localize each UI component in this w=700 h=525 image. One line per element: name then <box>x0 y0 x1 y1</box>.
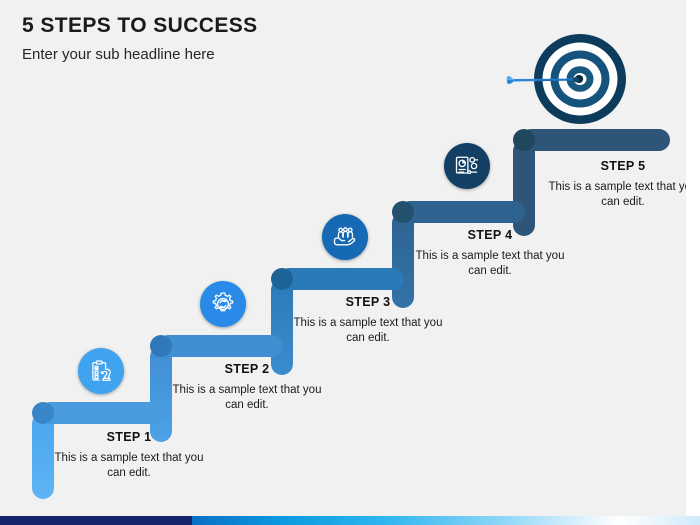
step-4-riser <box>392 212 414 308</box>
accent-navy-segment <box>0 516 192 525</box>
step-2-riser <box>150 346 172 442</box>
step-4-corner <box>392 201 414 223</box>
step-5-label: STEP 5 <box>548 159 698 173</box>
step-3-tread <box>278 268 404 290</box>
accent-gradient-segment <box>192 516 700 525</box>
step-5-description: This is a sample text that you can edit. <box>548 180 698 210</box>
step-5-icon-bubble[interactable] <box>444 143 490 189</box>
document-analytics-icon <box>453 152 481 180</box>
step-3-riser <box>271 279 293 375</box>
step-4-tread <box>399 201 525 223</box>
step-2-icon-bubble[interactable] <box>78 348 124 394</box>
step-1-riser <box>32 413 54 499</box>
hand-team-icon <box>331 223 359 251</box>
step-2-description: This is a sample text that you can edit. <box>172 383 322 413</box>
step-3-icon-bubble[interactable] <box>200 281 246 327</box>
page-title: 5 STEPS TO SUCCESS <box>22 14 258 38</box>
page-subtitle: Enter your sub headline here <box>22 46 215 63</box>
step-5-corner <box>513 129 535 151</box>
target-dartboard-icon <box>506 33 636 125</box>
step-3-label: STEP 3 <box>293 295 443 309</box>
step-1-tread <box>39 402 165 424</box>
step-1-description: This is a sample text that you can edit. <box>54 451 204 481</box>
step-4-description: This is a sample text that you can edit. <box>415 249 565 279</box>
step-3-description: This is a sample text that you can edit. <box>293 316 443 346</box>
right-margin <box>686 0 700 516</box>
step-3-corner <box>271 268 293 290</box>
step-1-label: STEP 1 <box>54 430 204 444</box>
step-4-icon-bubble[interactable] <box>322 214 368 260</box>
step-5-tread <box>520 129 670 151</box>
clipboard-strategy-icon <box>88 358 115 385</box>
step-2-tread <box>157 335 283 357</box>
slide-canvas: 5 STEPS TO SUCCESS Enter your sub headli… <box>0 0 700 525</box>
bottom-accent-bar <box>0 516 700 525</box>
step-4-label: STEP 4 <box>415 228 565 242</box>
gear-refresh-icon <box>209 290 237 318</box>
step-2-label: STEP 2 <box>172 362 322 376</box>
step-2-corner <box>150 335 172 357</box>
step-1-corner <box>32 402 54 424</box>
